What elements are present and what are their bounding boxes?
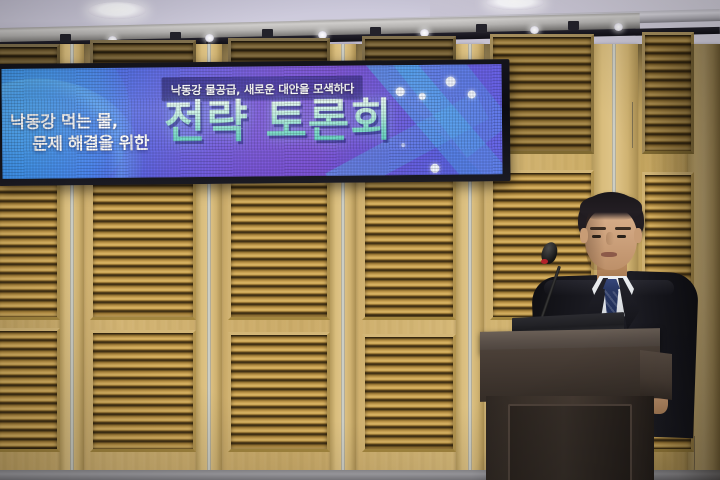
screen-decor-dot — [396, 87, 405, 96]
led-video-wall[interactable]: 낙동강 먹는 물, 문제 해결을 위한 낙동강 물공급, 새로운 대안을 모색하… — [0, 59, 511, 186]
louver-panel — [90, 330, 196, 452]
ear-left — [580, 228, 588, 243]
louver-panel — [0, 328, 60, 452]
screen-decor-dot — [446, 77, 456, 87]
louver-panel — [362, 334, 456, 452]
truss-lamp-icon — [530, 26, 539, 34]
lectern-front-face — [480, 346, 660, 402]
louver-panel — [90, 164, 196, 320]
lectern-front-panel — [508, 404, 632, 480]
mouth — [601, 252, 617, 257]
screen-decor-dot — [401, 143, 405, 147]
screen-decor-dot — [430, 164, 439, 173]
louver-panel — [228, 332, 330, 452]
truss-clamp — [370, 27, 381, 36]
truss-clamp — [60, 34, 71, 43]
eye-right — [617, 235, 626, 238]
screen-decor-dot — [468, 90, 476, 98]
hanging-wire — [632, 102, 633, 148]
truss-clamp — [262, 29, 273, 38]
louver-panel — [362, 168, 456, 320]
microphone-indicator-light — [541, 259, 548, 264]
led-screen-surface: 낙동강 먹는 물, 문제 해결을 위한 낙동강 물공급, 새로운 대안을 모색하… — [1, 64, 502, 179]
ear-right — [634, 228, 642, 243]
truss-lamp-icon — [205, 34, 214, 42]
nose — [606, 232, 614, 245]
lectern-side-face — [640, 350, 672, 400]
eye-left — [592, 235, 601, 238]
louver-panel — [642, 32, 694, 154]
hair-fringe — [580, 194, 642, 220]
eyebrow-right — [615, 227, 631, 230]
louver-panel — [228, 166, 330, 320]
screen-decor-dot — [419, 93, 426, 100]
truss-clamp — [476, 24, 487, 33]
eyebrow-left — [590, 227, 606, 230]
truss-lamp-icon — [614, 23, 623, 31]
screenshot-scene: 낙동강 먹는 물, 문제 해결을 위한 낙동강 물공급, 새로운 대안을 모색하… — [0, 0, 720, 480]
slide-main-title: 전략 토론회 — [164, 97, 393, 144]
ceiling-downlight-icon — [88, 2, 146, 19]
truss-clamp — [568, 21, 579, 30]
